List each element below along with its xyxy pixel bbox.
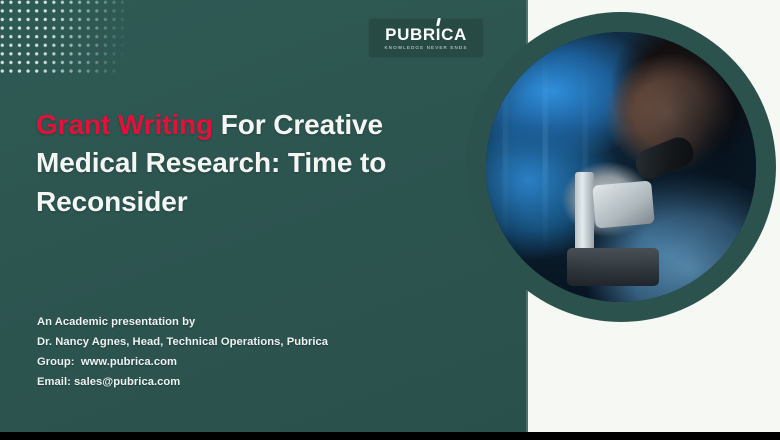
logo-wordmark-part1: PUBR	[385, 25, 436, 44]
slide-title: Grant Writing For Creative Medical Resea…	[36, 106, 456, 221]
presenter-details: An Academic presentation by Dr. Nancy Ag…	[37, 312, 457, 392]
logo-letter-i-text: I	[436, 25, 441, 44]
slide-title-accent: Grant Writing	[36, 109, 213, 140]
logo-wordmark: PUBRICA	[385, 26, 467, 43]
presentation-slide: PUBRICA Knowledge Never Ends Grant Writi…	[0, 0, 780, 440]
presenter-line-3: Group: www.pubrica.com	[37, 352, 457, 372]
photo-vignette	[486, 32, 756, 302]
bottom-bar	[0, 432, 780, 440]
microscope-photo	[486, 32, 756, 302]
presenter-line-4: Email: sales@pubrica.com	[37, 372, 457, 392]
presenter-line-1: An Academic presentation by	[37, 312, 457, 332]
pubrica-logo[interactable]: PUBRICA Knowledge Never Ends	[368, 18, 484, 58]
presenter-line-2: Dr. Nancy Agnes, Head, Technical Operati…	[37, 332, 457, 352]
logo-letter-i: I	[436, 25, 441, 44]
logo-wordmark-part2: CA	[441, 25, 467, 44]
logo-tagline: Knowledge Never Ends	[384, 46, 467, 51]
